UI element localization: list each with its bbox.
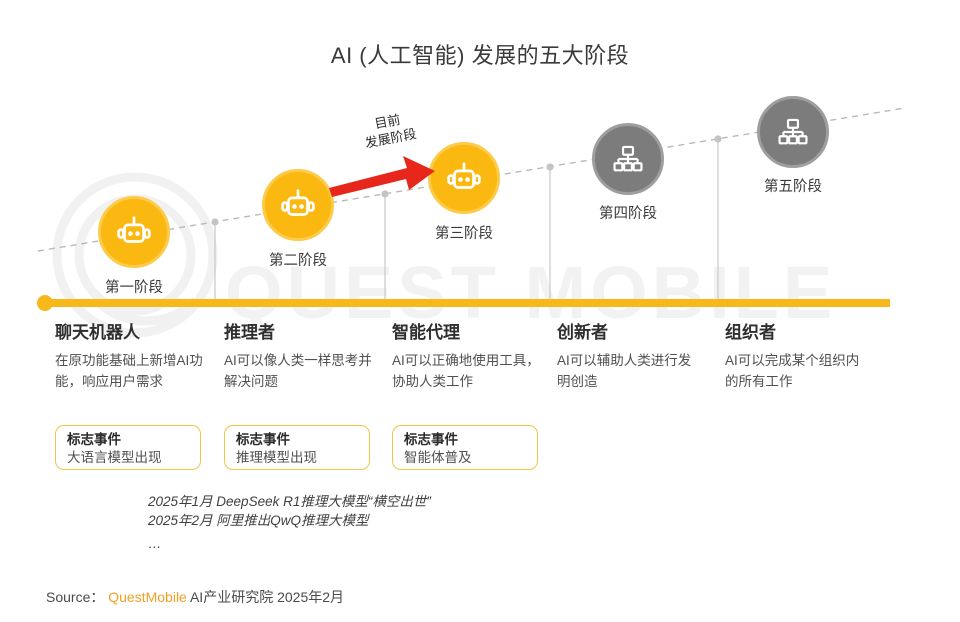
callout-text-block: 目前 发展阶段	[342, 105, 437, 156]
column-2-event-body: 推理模型出现	[236, 449, 369, 467]
column-3-event-title: 标志事件	[404, 431, 537, 449]
stage-2-circle[interactable]	[262, 169, 334, 241]
slide-canvas: QUEST MOBILE AI (人工智能) 发展的五大阶段	[0, 0, 960, 622]
connector-dot-1	[211, 218, 218, 225]
stage-5-label: 第五阶段	[743, 175, 843, 196]
column-3-event-box: 标志事件 智能体普及	[392, 425, 538, 470]
timeline-graphics	[0, 0, 960, 622]
column-4-description: AI可以辅助人类进行发明创造	[557, 350, 697, 392]
connector-dot-3	[546, 163, 553, 170]
column-5-title: 组织者	[725, 318, 776, 343]
column-1-title: 聊天机器人	[55, 318, 140, 343]
stage-1-label: 第一阶段	[84, 276, 184, 297]
org-chart-icon	[776, 115, 810, 149]
timeline-baseline-bar	[45, 299, 890, 307]
column-1-description: 在原功能基础上新增AI功能，响应用户需求	[55, 350, 203, 392]
robot-icon	[445, 159, 483, 197]
timeline-notes: 2025年1月 DeepSeek R1推理大模型“横空出世” 2025年2月 阿…	[148, 492, 431, 553]
column-2-event-box: 标志事件 推理模型出现	[224, 425, 370, 470]
stage-4-label: 第四阶段	[578, 202, 678, 223]
source-brand: QuestMobile	[108, 589, 187, 605]
stage-4-circle[interactable]	[592, 123, 664, 195]
stage-2-label: 第二阶段	[248, 249, 348, 270]
column-5-description: AI可以完成某个组织内的所有工作	[725, 350, 865, 392]
note-line-1: 2025年1月 DeepSeek R1推理大模型“横空出世”	[148, 492, 431, 511]
source-line: Source： QuestMobile AI产业研究院 2025年2月	[46, 587, 344, 607]
source-suffix: AI产业研究院 2025年2月	[190, 589, 344, 605]
questmobile-watermark: QUEST MOBILE	[0, 0, 960, 622]
column-3-event-body: 智能体普及	[404, 449, 537, 467]
stage-5-circle[interactable]	[757, 96, 829, 168]
connector-dot-4	[714, 135, 721, 142]
column-2-title: 推理者	[224, 318, 275, 343]
column-1-event-body: 大语言模型出现	[67, 449, 200, 467]
note-line-2: 2025年2月 阿里推出QwQ推理大模型	[148, 511, 431, 530]
column-4-title: 创新者	[557, 318, 608, 343]
column-2-event-title: 标志事件	[236, 431, 369, 449]
column-1-event-title: 标志事件	[67, 431, 200, 449]
column-1-event-box: 标志事件 大语言模型出现	[55, 425, 201, 470]
org-chart-icon	[611, 142, 645, 176]
robot-icon	[279, 186, 317, 224]
column-3-title: 智能代理	[392, 318, 460, 343]
baseline-start-cap	[37, 295, 53, 311]
source-prefix: Source：	[46, 589, 104, 605]
stage-3-label: 第三阶段	[414, 222, 514, 243]
red-right-arrow-icon	[325, 150, 440, 200]
robot-icon	[115, 213, 153, 251]
page-title: AI (人工智能) 发展的五大阶段	[0, 38, 960, 70]
note-ellipsis: …	[148, 534, 431, 553]
column-3-description: AI可以正确地使用工具，协助人类工作	[392, 350, 542, 392]
column-2-description: AI可以像人类一样思考并解决问题	[224, 350, 372, 392]
stage-1-circle[interactable]	[98, 196, 170, 268]
